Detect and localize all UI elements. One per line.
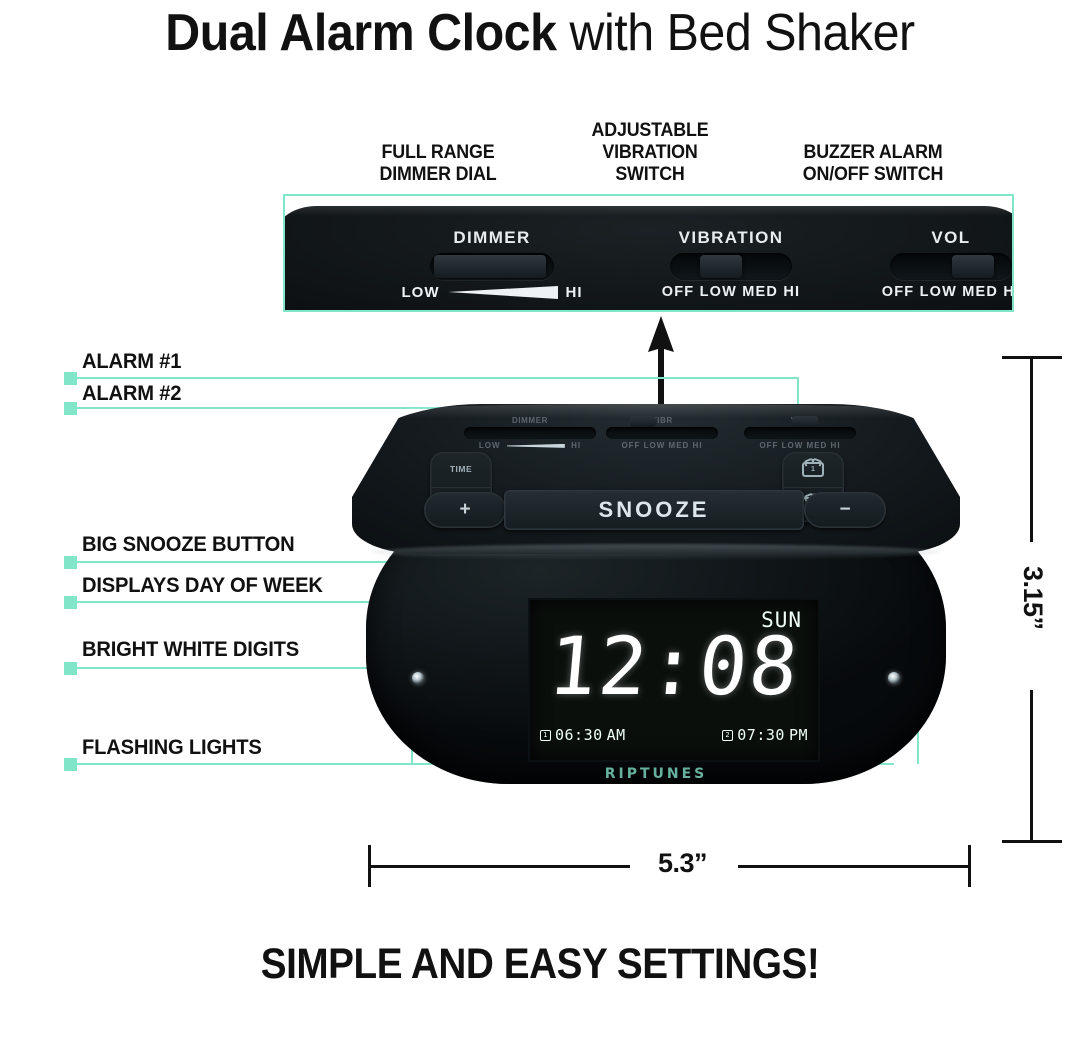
clock-rear-vibration-knob[interactable]: [630, 416, 656, 427]
snooze-button[interactable]: SNOOZE: [504, 490, 804, 530]
page-title: Dual Alarm Clock with Bed Shaker: [38, 4, 1042, 62]
flashing-light-led-right: [888, 672, 900, 684]
lcd-time: 12:08: [526, 624, 822, 710]
lcd-alarm-row: 1 06:30 AM 2 07:30 PM: [540, 726, 808, 744]
callout-label-digits: BRIGHT WHITE DIGITS: [82, 638, 299, 662]
rear-controls-bar: DIMMER LOW HI VIBRATION OFF LOW: [283, 206, 1014, 312]
dimension-height-cap-bottom: [1002, 840, 1062, 843]
vol-switch-knob[interactable]: [952, 255, 994, 278]
detail-control-vibration: VIBRATION OFF LOW MED HI: [613, 228, 849, 300]
clock-rear-vibration-scale: OFF LOW MED HI: [606, 441, 718, 450]
vibration-scale-low: LOW: [700, 284, 737, 300]
infographic-canvas: Dual Alarm Clock with Bed Shaker FULL RA…: [0, 0, 1080, 1049]
dimmer-dial-track[interactable]: [430, 253, 554, 280]
alarm-1-clock-icon: 1: [802, 462, 824, 477]
clock-rear-dimmer-scale: LOW HI: [464, 441, 596, 450]
zoom-arrow-icon: [648, 316, 674, 412]
vol-scale-med: MED: [962, 284, 998, 300]
callout-line-alarm-1-horizontal: [64, 377, 799, 379]
dimension-height-line-upper: [1030, 356, 1033, 542]
plus-button[interactable]: +: [424, 492, 506, 528]
dimension-width-cap-right: [968, 845, 971, 887]
callout-heading-vibration-line1: ADJUSTABLE: [554, 120, 746, 142]
callout-label-snooze: BIG SNOOZE BUTTON: [82, 533, 295, 557]
lcd-alarm-1-time: 06:30: [555, 726, 603, 744]
detail-control-vol: VOL OFF LOW MED HI: [833, 228, 1014, 300]
callout-label-alarm-1: ALARM #1: [82, 350, 181, 374]
callout-heading-vibration: ADJUSTABLE VIBRATION SWITCH: [554, 120, 746, 186]
detail-control-vibration-label: VIBRATION: [613, 228, 849, 248]
dimension-height-line-lower: [1030, 690, 1033, 842]
clock-edge-highlight: [372, 544, 940, 560]
alarm-clock-product: DIMMER LOW HI VIBR OFF LOW MED HI VOL OF…: [352, 404, 960, 784]
clock-rear-vol-scale: OFF LOW MED HI: [744, 441, 856, 450]
time-button[interactable]: TIME: [430, 452, 492, 488]
clock-rear-vibration-slot[interactable]: [606, 427, 718, 439]
callout-heading-buzzer-line1: BUZZER ALARM: [767, 142, 979, 164]
callout-heading-dimmer-line1: FULL RANGE: [336, 142, 539, 164]
clock-rear-vol-slot[interactable]: [744, 427, 856, 439]
clock-rear-dimmer[interactable]: DIMMER LOW HI: [464, 416, 596, 450]
clock-rear-vibration-label: VIBR: [606, 416, 718, 425]
vol-scale: OFF LOW MED HI: [833, 284, 1014, 300]
callout-label-flashing-lights: FLASHING LIGHTS: [82, 736, 262, 760]
clock-rear-dimmer-low: LOW: [479, 441, 501, 450]
vibration-switch-track[interactable]: [670, 253, 792, 280]
dimmer-scale-hi: HI: [566, 284, 583, 301]
lcd-alarm-1: 1 06:30 AM: [540, 726, 626, 744]
callout-heading-buzzer: BUZZER ALARM ON/OFF SWITCH: [767, 142, 979, 186]
dimmer-gradient-wedge-icon: [448, 286, 558, 300]
clock-rear-vol[interactable]: VOL OFF LOW MED HI: [744, 416, 856, 450]
clock-rear-dimmer-wedge-icon: [507, 444, 565, 448]
dimension-width-line-right: [738, 865, 970, 868]
callout-heading-dimmer-line2: DIMMER DIAL: [336, 164, 539, 186]
rear-controls-detail-panel: DIMMER LOW HI VIBRATION OFF LOW: [283, 194, 1014, 312]
dimmer-scale-low: LOW: [402, 284, 440, 301]
clock-rear-dimmer-label: DIMMER: [464, 416, 596, 425]
dimension-width-label: 5.3”: [658, 848, 707, 879]
callout-heading-vibration-line2: VIBRATION: [554, 142, 746, 164]
dimension-height-label: 3.15”: [1017, 566, 1048, 630]
callout-heading-vibration-line3: SWITCH: [554, 164, 746, 186]
clock-rear-dimmer-hi: HI: [571, 441, 581, 450]
flashing-light-led-left: [412, 672, 424, 684]
brand-logo: RIPTUNES: [352, 766, 960, 782]
callout-heading-buzzer-line2: ON/OFF SWITCH: [767, 164, 979, 186]
vibration-scale-med: MED: [742, 284, 778, 300]
detail-control-dimmer: DIMMER LOW HI: [385, 228, 599, 301]
callout-heading-dimmer: FULL RANGE DIMMER DIAL: [336, 142, 539, 186]
lcd-display: SUN 12:08 1 06:30 AM 2 07:30 PM: [530, 600, 818, 760]
lcd-alarm-2-meridiem: PM: [789, 726, 808, 744]
lcd-alarm-2-time: 07:30: [737, 726, 785, 744]
lcd-alarm-2-bell-icon: 2: [722, 730, 733, 741]
vibration-switch-knob[interactable]: [700, 255, 742, 278]
detail-control-dimmer-label: DIMMER: [385, 228, 599, 248]
lcd-alarm-1-meridiem: AM: [607, 726, 626, 744]
vol-scale-low: LOW: [920, 284, 957, 300]
alarm-1-button[interactable]: 1: [782, 452, 844, 488]
vol-scale-off: OFF: [882, 284, 915, 300]
title-regular-part: with Bed Shaker: [557, 4, 915, 62]
vol-scale-hi: HI: [1003, 284, 1014, 300]
clock-rear-dimmer-slot[interactable]: [464, 427, 596, 439]
minus-button[interactable]: −: [804, 492, 886, 528]
callout-label-alarm-2: ALARM #2: [82, 382, 181, 406]
lcd-alarm-2: 2 07:30 PM: [722, 726, 808, 744]
detail-control-vol-label: VOL: [833, 228, 1014, 248]
footer-tagline: SIMPLE AND EASY SETTINGS!: [54, 940, 1026, 989]
clock-rear-vibration[interactable]: VIBR OFF LOW MED HI: [606, 416, 718, 450]
lcd-alarm-1-bell-icon: 1: [540, 730, 551, 741]
dimmer-scale: LOW HI: [385, 284, 599, 301]
vibration-scale-off: OFF: [662, 284, 695, 300]
clock-rear-vol-knob[interactable]: [792, 416, 818, 427]
vibration-scale-hi: HI: [783, 284, 800, 300]
title-bold-part: Dual Alarm Clock: [165, 4, 556, 62]
vibration-scale: OFF LOW MED HI: [613, 284, 849, 300]
vol-switch-track[interactable]: [890, 253, 1012, 280]
callout-label-day-of-week: DISPLAYS DAY OF WEEK: [82, 574, 323, 598]
dimmer-dial-knob[interactable]: [434, 255, 546, 278]
dimension-width-line-left: [368, 865, 630, 868]
